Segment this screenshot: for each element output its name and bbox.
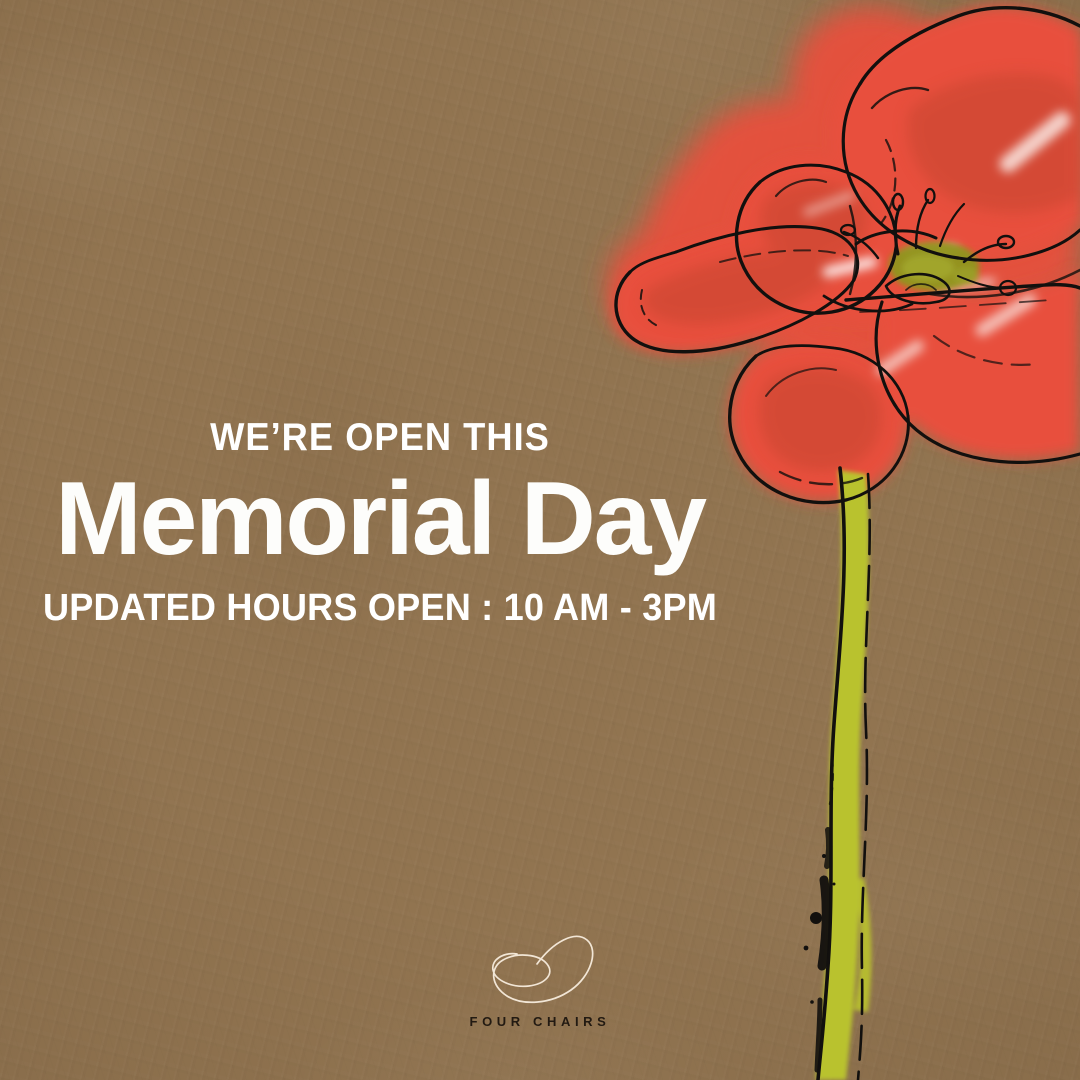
page-title: Memorial Day — [0, 463, 760, 575]
brand-wordmark: FOUR CHAIRS — [470, 1015, 611, 1028]
social-post-canvas: WE’RE OPEN THIS Memorial Day UPDATED HOU… — [0, 0, 1080, 1080]
updated-hours-text: UPDATED HOURS OPEN : 10 AM - 3PM — [19, 589, 741, 627]
stamen-cluster-fill — [889, 242, 980, 291]
eyebrow-text: WE’RE OPEN THIS — [27, 418, 734, 457]
four-chairs-loop-icon — [479, 928, 601, 1006]
brand-logo: FOUR CHAIRS — [0, 928, 1080, 1028]
announcement-copy: WE’RE OPEN THIS Memorial Day UPDATED HOU… — [0, 418, 760, 627]
